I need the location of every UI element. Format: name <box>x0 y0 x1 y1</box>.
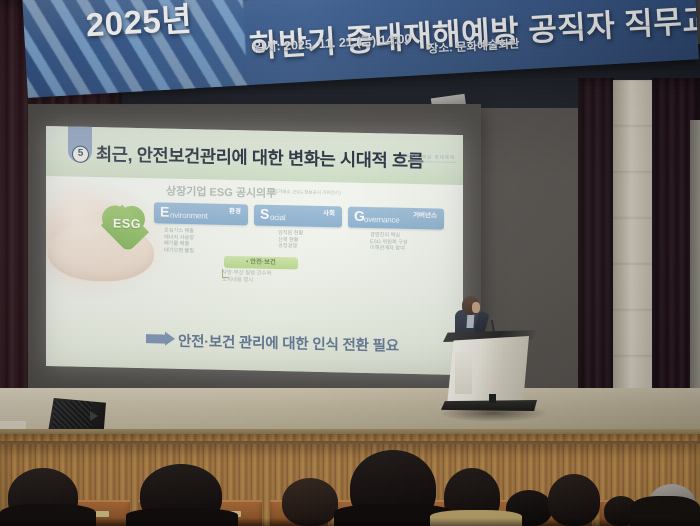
slide-title-bar: 5 최근, 안전보건관리에 대한 변화는 시대적 흐름 제8차 해설 중대재해 <box>46 126 463 185</box>
disclosure-subtitle: (한국거래소, ESG 정보공시 가이던스) <box>268 189 341 197</box>
safety-health-highlight: • 안전·보건 <box>224 256 298 270</box>
esg-heart-icon: ESG <box>102 203 150 246</box>
esg-box-environment: E nvironment 환경 <box>154 202 248 225</box>
esg-column-social: S ocial 사회 임직원 현황 산재 현황 공정경쟁 <box>254 205 342 252</box>
bottom-shadow <box>0 518 700 526</box>
wall-pillar <box>613 80 653 425</box>
esg-items-environment: 온실가스 배출 에너지 사용량 폐기물 배출 대기오염 물질 <box>154 227 248 255</box>
safety-note: 사망·부상 질병 건수와 조치내용 명시 <box>222 270 271 285</box>
esg-column-governance: G overnance 거버넌스 경영진의 책임 ESG 위원회 구성 이해관계… <box>348 207 444 254</box>
esg-item: 공정경쟁 <box>278 243 342 251</box>
esg-kr-e: 환경 <box>229 205 241 215</box>
arrow-right-icon <box>146 334 166 343</box>
esg-kr-s: 사회 <box>323 207 335 217</box>
slide-number-badge: 5 <box>72 146 89 163</box>
podium-side-panel <box>455 352 472 394</box>
esg-cap-s: S <box>260 206 269 222</box>
slide-title: 최근, 안전보건관리에 대한 변화는 시대적 흐름 <box>96 141 424 173</box>
presentation-slide: 5 최근, 안전보건관리에 대한 변화는 시대적 흐름 제8차 해설 중대재해 … <box>46 126 463 375</box>
esg-items-governance: 경영진의 책임 ESG 위원회 구성 이해관계자 참여 <box>348 232 444 254</box>
podium-foot <box>489 394 496 403</box>
slide-footer-band: 안전·보건 관리에 대한 인식 전환 필요 <box>46 314 463 375</box>
esg-rest-e: nvironment <box>170 211 208 221</box>
esg-kr-g: 거버넌스 <box>413 209 437 220</box>
projection-screen: 5 최근, 안전보건관리에 대한 변화는 시대적 흐름 제8차 해설 중대재해 … <box>28 104 481 389</box>
stage-monitor-speaker <box>48 398 106 432</box>
auditorium-photo: -광주 고용노동청 광역중대재해수사과장 초청 특강- 2025년 하반기 중대… <box>0 0 700 526</box>
esg-cap-e: E <box>160 203 169 219</box>
esg-rest-s: ocial <box>270 213 285 222</box>
esg-column-environment: E nvironment 환경 온실가스 배출 에너지 사용량 폐기물 배출 대… <box>154 202 248 255</box>
esg-item: 이해관계자 참여 <box>370 245 444 253</box>
esg-heart-label: ESG <box>104 216 150 231</box>
safety-note-line2: 조치내용 명시 <box>222 277 271 285</box>
esg-items-social: 임직원 현황 산재 현황 공정경쟁 <box>254 230 342 252</box>
slide-corner-tag: 제8차 해설 중대재해 <box>406 154 455 161</box>
esg-box-governance: G overnance 거버넌스 <box>348 207 444 230</box>
stage-curtain-right-inner <box>578 78 614 423</box>
slide-body: ESG 상장기업 ESG 공시의무 (한국거래소, ESG 정보공시 가이던스)… <box>46 176 463 323</box>
disclosure-title: 상장기업 ESG 공시의무 <box>166 183 276 201</box>
wall-edge-right <box>690 120 700 420</box>
slide-footer-text: 안전·보건 관리에 대한 인식 전환 필요 <box>178 330 399 356</box>
esg-box-social: S ocial 사회 <box>254 205 342 228</box>
esg-rest-g: overnance <box>364 215 400 225</box>
speaker-grille <box>53 401 92 428</box>
